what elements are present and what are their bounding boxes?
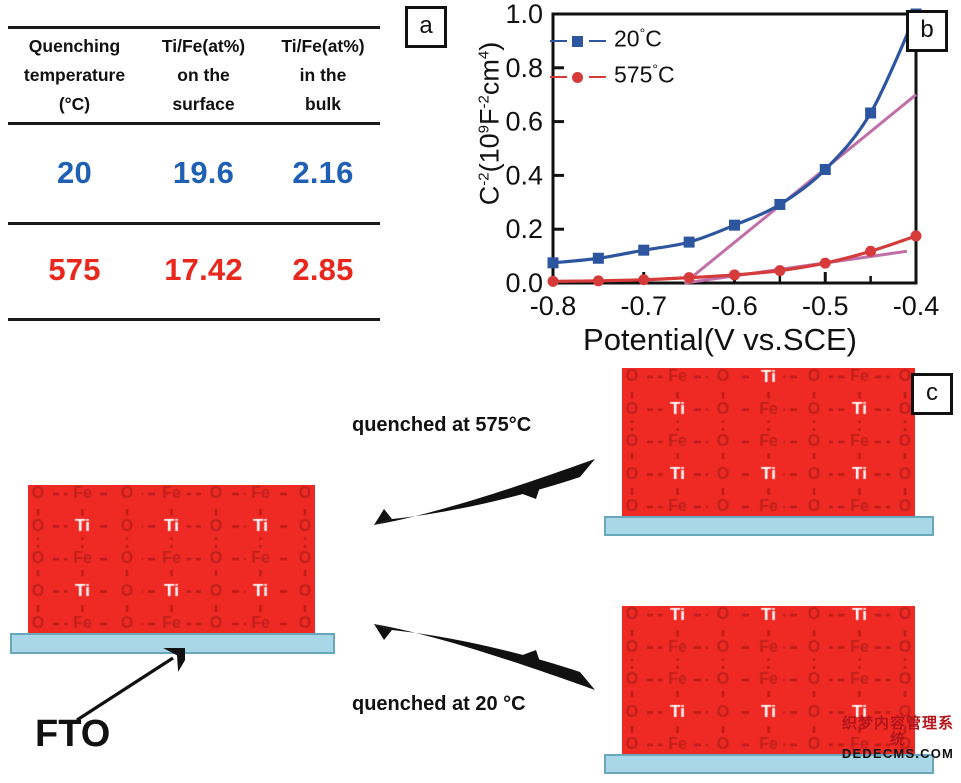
ylabel-cm-sup: 4 <box>476 51 493 59</box>
data-point <box>730 270 740 280</box>
watermark-chinese: 织梦内容管理系统 <box>839 716 957 748</box>
table-header-tife-bulk: Ti/Fe(at%) in the bulk <box>266 32 380 119</box>
data-point <box>593 253 603 263</box>
ylabel-f: F <box>475 108 505 125</box>
fto-substrate-575 <box>604 516 934 536</box>
header-line: Quenching <box>8 32 141 61</box>
y-tick-label: 1.0 <box>505 0 543 29</box>
x-tick-label: -0.8 <box>530 291 577 321</box>
panel-label-b: b <box>906 10 948 52</box>
x-tick-label: -0.7 <box>620 291 667 321</box>
mott-schottky-plot: 0.00.20.40.60.81.0-0.8-0.7-0.6-0.5-0.4 <box>450 0 961 360</box>
header-line: surface <box>141 90 266 119</box>
legend-label-value: 20 <box>614 26 640 52</box>
legend-label-unit: C <box>645 26 662 52</box>
data-point <box>775 266 785 276</box>
ylabel-open: (10 <box>475 133 505 172</box>
chart-x-axis-label: Potential(V vs.SCE) <box>510 322 930 358</box>
table-header-quenching-temperature: Quenching temperature (°C) <box>8 32 141 119</box>
ylabel-close: ) <box>475 42 505 51</box>
pristine-crystal <box>28 485 315 633</box>
ylabel-c-sup: -2 <box>476 172 493 185</box>
watermark: 织梦内容管理系统 DEDECMS.COM <box>839 716 957 761</box>
cell-temperature: 20 <box>8 155 141 191</box>
legend-item-20c[interactable]: 20°C <box>550 25 662 53</box>
table-header-tife-surface: Ti/Fe(at%) on the surface <box>141 32 266 119</box>
y-tick-label: 0.4 <box>505 160 543 190</box>
data-point <box>548 276 558 286</box>
x-tick-label: -0.5 <box>802 291 849 321</box>
data-point <box>820 258 830 268</box>
data-point <box>684 237 694 247</box>
legend-swatch-20c <box>550 34 606 48</box>
cell-surface: 17.42 <box>141 252 266 288</box>
data-point <box>820 164 830 174</box>
ylabel-cm: cm <box>475 59 505 95</box>
arrow-to-575c-crystal <box>370 453 610 533</box>
ylabel-f-sup: -2 <box>476 95 493 108</box>
panel-label-a: a <box>405 6 447 48</box>
data-point <box>548 258 558 268</box>
table-row: 20 19.6 2.16 <box>8 143 380 203</box>
header-line: on the <box>141 61 266 90</box>
header-line: bulk <box>266 90 380 119</box>
cell-bulk: 2.16 <box>266 155 380 191</box>
data-point <box>730 220 740 230</box>
header-line: in the <box>266 61 380 90</box>
table-rule-middle <box>8 222 380 225</box>
quenched-575-crystal <box>622 368 915 516</box>
legend-swatch-575c <box>550 70 606 84</box>
table-row: 575 17.42 2.85 <box>8 240 380 300</box>
y-tick-label: 0.2 <box>505 214 543 244</box>
cell-bulk: 2.85 <box>266 252 380 288</box>
watermark-latin: DEDECMS.COM <box>839 747 957 761</box>
panel-b-chart: 0.00.20.40.60.81.0-0.8-0.7-0.6-0.5-0.4 C… <box>450 0 961 360</box>
x-tick-label: -0.4 <box>893 291 940 321</box>
legend-item-575c[interactable]: 575°C <box>550 61 675 89</box>
table-rule-bottom <box>8 318 380 321</box>
table-rule-top <box>8 26 380 29</box>
panel-a-table: Quenching temperature (°C) Ti/Fe(at%) on… <box>0 0 440 340</box>
ylabel-c: C <box>475 186 505 206</box>
panel-label-c: c <box>911 373 953 415</box>
cell-temperature: 575 <box>8 252 141 288</box>
ylabel-exp9: 9 <box>476 125 493 133</box>
y-tick-label: 0.6 <box>505 107 543 137</box>
y-tick-label: 0.8 <box>505 53 543 83</box>
header-line: Ti/Fe(at%) <box>141 32 266 61</box>
header-line: (°C) <box>8 90 141 119</box>
data-point <box>866 246 876 256</box>
table-rule-header <box>8 122 380 125</box>
header-line: temperature <box>8 61 141 90</box>
cell-surface: 19.6 <box>141 155 266 191</box>
legend-label-value: 575 <box>614 62 652 88</box>
arrow-label-575c: quenched at 575°C <box>352 414 531 437</box>
data-point <box>593 276 603 286</box>
data-point <box>639 245 649 255</box>
data-point <box>684 273 694 283</box>
x-tick-label: -0.6 <box>711 291 758 321</box>
legend-label-unit: C <box>658 62 675 88</box>
data-point <box>775 199 785 209</box>
table-header-row: Quenching temperature (°C) Ti/Fe(at%) on… <box>8 32 380 119</box>
data-point <box>911 231 921 241</box>
data-point <box>866 108 876 118</box>
header-line: Ti/Fe(at%) <box>266 32 380 61</box>
arrow-label-20c: quenched at 20 °C <box>352 693 526 716</box>
arrow-to-20c-crystal <box>370 618 610 698</box>
data-point <box>639 275 649 285</box>
fto-label: FTO <box>35 713 110 756</box>
chart-y-axis-label: C-2(109F-2cm4) <box>475 0 506 254</box>
panel-c-diagram: FTO quenched at 575°C quenched at 20 °C … <box>0 358 961 783</box>
